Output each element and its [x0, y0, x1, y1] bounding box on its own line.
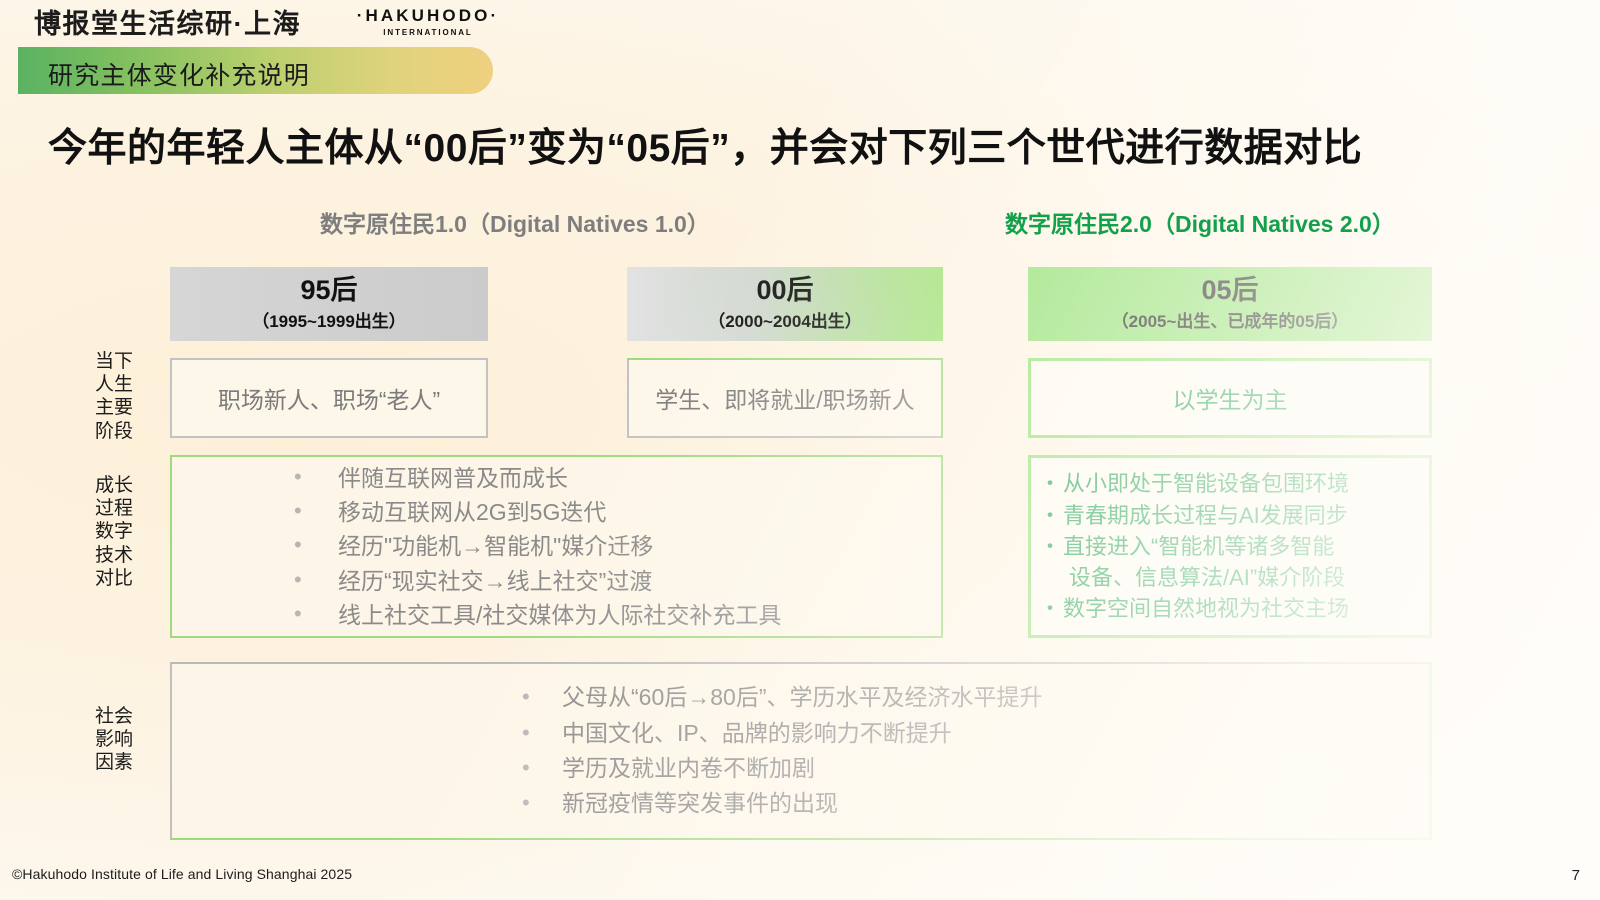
- list-item: 经历"功能机→智能机"媒介迁移: [294, 529, 781, 563]
- row-label-line: 过程: [64, 497, 164, 520]
- generation-header-00: 00后 （2000~2004出生）: [627, 267, 943, 341]
- life-stage-text: 以学生为主: [1173, 381, 1288, 415]
- footer-page-number: 7: [1572, 867, 1580, 884]
- list-item: 伴随互联网普及而成长: [294, 461, 781, 495]
- row-label-line: 成长: [64, 474, 164, 497]
- list-item: 从小即处于智能设备包围环境: [1043, 468, 1349, 499]
- list-item: 线上社交工具/社交媒体为人际社交补充工具: [294, 598, 781, 632]
- row-label-growth-tech: 成长 过程 数字 技术 对比: [64, 474, 164, 590]
- row-label-line: 影响: [64, 728, 164, 751]
- row-label-line: 阶段: [64, 420, 164, 443]
- generation-subtitle: （1995~1999出生）: [252, 307, 406, 332]
- row-label-line: 对比: [64, 567, 164, 590]
- list-item: 新冠疫情等突发事件的出现: [522, 786, 1042, 821]
- list-item: 移动互联网从2G到5G迭代: [294, 495, 781, 529]
- list-item-continuation: 设备、信息算法/AI”媒介阶段: [1043, 562, 1349, 593]
- row-label-social-factors: 社会 影响 因素: [64, 705, 164, 775]
- life-stage-cell-05: 以学生为主: [1028, 358, 1432, 438]
- brand-name-cn: 博报堂生活综研·上海: [34, 2, 301, 41]
- life-stage-cell-95: 职场新人、职场“老人”: [170, 358, 488, 438]
- list-item: 青春期成长过程与AI发展同步: [1043, 500, 1349, 531]
- generation-header-95: 95后 （1995~1999出生）: [170, 267, 488, 341]
- page-title: 今年的年轻人主体从“00后”变为“05后”，并会对下列三个世代进行数据对比: [48, 117, 1362, 173]
- social-bullet-list: 父母从“60后→80后”、学历水平及经济水平提升 中国文化、IP、品牌的影响力不…: [522, 680, 1042, 822]
- footer-copyright: ©Hakuhodo Institute of Life and Living S…: [12, 866, 352, 882]
- generation-subtitle: （2005~出生、已成年的05后）: [1112, 307, 1349, 332]
- row-label-life-stage: 当下 人生 主要 阶段: [64, 350, 164, 443]
- list-item: 中国文化、IP、品牌的影响力不断提升: [522, 716, 1042, 751]
- generation-header-05: 05后 （2005~出生、已成年的05后）: [1028, 267, 1432, 341]
- life-stage-cell-00: 学生、即将就业/职场新人: [627, 358, 943, 438]
- row-label-line: 主要: [64, 396, 164, 419]
- list-item: 数字空间自然地视为社交主场: [1043, 593, 1349, 624]
- social-factors-cell: 父母从“60后→80后”、学历水平及经济水平提升 中国文化、IP、品牌的影响力不…: [170, 662, 1432, 840]
- slide-canvas: 博报堂生活综研·上海 ·HAKUHODO· INTERNATIONAL 研究主体…: [0, 0, 1600, 900]
- hakuhodo-logo: ·HAKUHODO· INTERNATIONAL: [338, 6, 518, 37]
- row-label-line: 数字: [64, 520, 164, 543]
- growth-bullet-list-right: 从小即处于智能设备包围环境 青春期成长过程与AI发展同步 直接进入“智能机等诸多…: [1043, 468, 1349, 624]
- row-label-line: 技术: [64, 544, 164, 567]
- list-item: 父母从“60后→80后”、学历水平及经济水平提升: [522, 680, 1042, 715]
- slide-header: 博报堂生活综研·上海 ·HAKUHODO· INTERNATIONAL: [0, 0, 1600, 46]
- row-label-line: 社会: [64, 705, 164, 728]
- life-stage-text: 学生、即将就业/职场新人: [655, 381, 914, 415]
- list-item: 直接进入“智能机等诸多智能: [1043, 531, 1349, 562]
- generation-title: 95后: [300, 276, 357, 306]
- hakuhodo-logo-sub: INTERNATIONAL: [338, 28, 518, 37]
- list-item: 经历“现实社交→线上社交”过渡: [294, 564, 781, 598]
- generation-title: 00后: [756, 276, 813, 306]
- generation-title: 05后: [1201, 276, 1258, 306]
- list-item: 学历及就业内卷不断加剧: [522, 751, 1042, 786]
- row-label-line: 当下: [64, 350, 164, 373]
- life-stage-text: 职场新人、职场“老人”: [218, 381, 440, 415]
- growth-bullet-list-left: 伴随互联网普及而成长 移动互联网从2G到5G迭代 经历"功能机→智能机"媒介迁移…: [294, 461, 781, 631]
- group-caption-digital-natives-2: 数字原住民2.0（Digital Natives 2.0）: [1005, 205, 1395, 239]
- row-label-line: 因素: [64, 751, 164, 774]
- row-label-line: 人生: [64, 373, 164, 396]
- growth-tech-cell-digital-natives-2: 从小即处于智能设备包围环境 青春期成长过程与AI发展同步 直接进入“智能机等诸多…: [1028, 455, 1432, 638]
- section-tab-label: 研究主体变化补充说明: [48, 56, 310, 92]
- group-caption-digital-natives-1: 数字原住民1.0（Digital Natives 1.0）: [320, 205, 710, 239]
- growth-tech-cell-digital-natives-1: 伴随互联网普及而成长 移动互联网从2G到5G迭代 经历"功能机→智能机"媒介迁移…: [170, 455, 943, 638]
- hakuhodo-logo-main: ·HAKUHODO·: [338, 6, 518, 26]
- generation-subtitle: （2000~2004出生）: [708, 307, 862, 332]
